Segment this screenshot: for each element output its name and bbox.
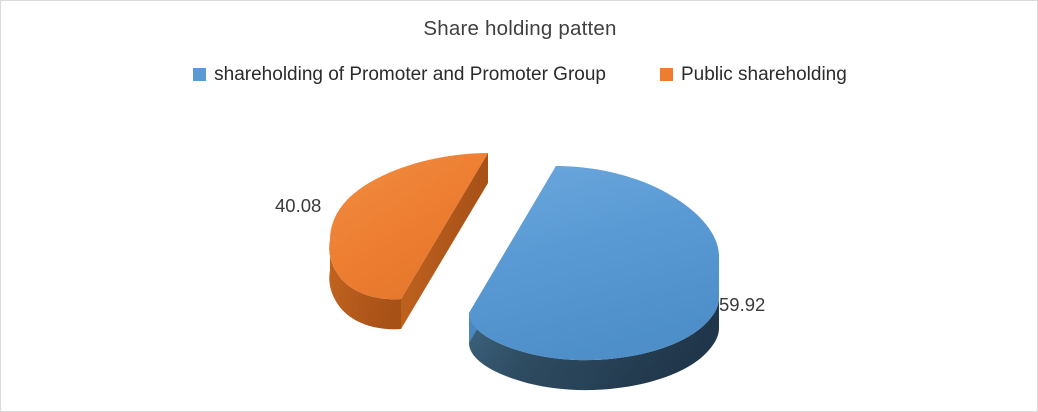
pie-chart-svg bbox=[1, 101, 1038, 401]
square-swatch-icon bbox=[193, 68, 206, 81]
data-label-public: 40.08 bbox=[275, 197, 321, 216]
pie-plot-area: 40.08 59.92 bbox=[1, 101, 1038, 401]
chart-frame: Share holding patten shareholding of Pro… bbox=[0, 0, 1038, 412]
pie-slice-public[interactable] bbox=[329, 153, 488, 329]
chart-title: Share holding patten bbox=[1, 17, 1038, 41]
chart-legend: shareholding of Promoter and Promoter Gr… bbox=[1, 65, 1038, 84]
data-label-promoter: 59.92 bbox=[719, 296, 765, 315]
pie-slice-public-top bbox=[329, 153, 488, 299]
legend-item-label: Public shareholding bbox=[681, 65, 847, 84]
square-swatch-icon bbox=[660, 68, 673, 81]
legend-item-public[interactable]: Public shareholding bbox=[660, 65, 847, 84]
pie-slice-promoter-top bbox=[469, 166, 719, 360]
pie-slice-promoter[interactable] bbox=[469, 166, 719, 390]
legend-item-promoter[interactable]: shareholding of Promoter and Promoter Gr… bbox=[193, 65, 606, 84]
legend-item-label: shareholding of Promoter and Promoter Gr… bbox=[214, 65, 606, 84]
